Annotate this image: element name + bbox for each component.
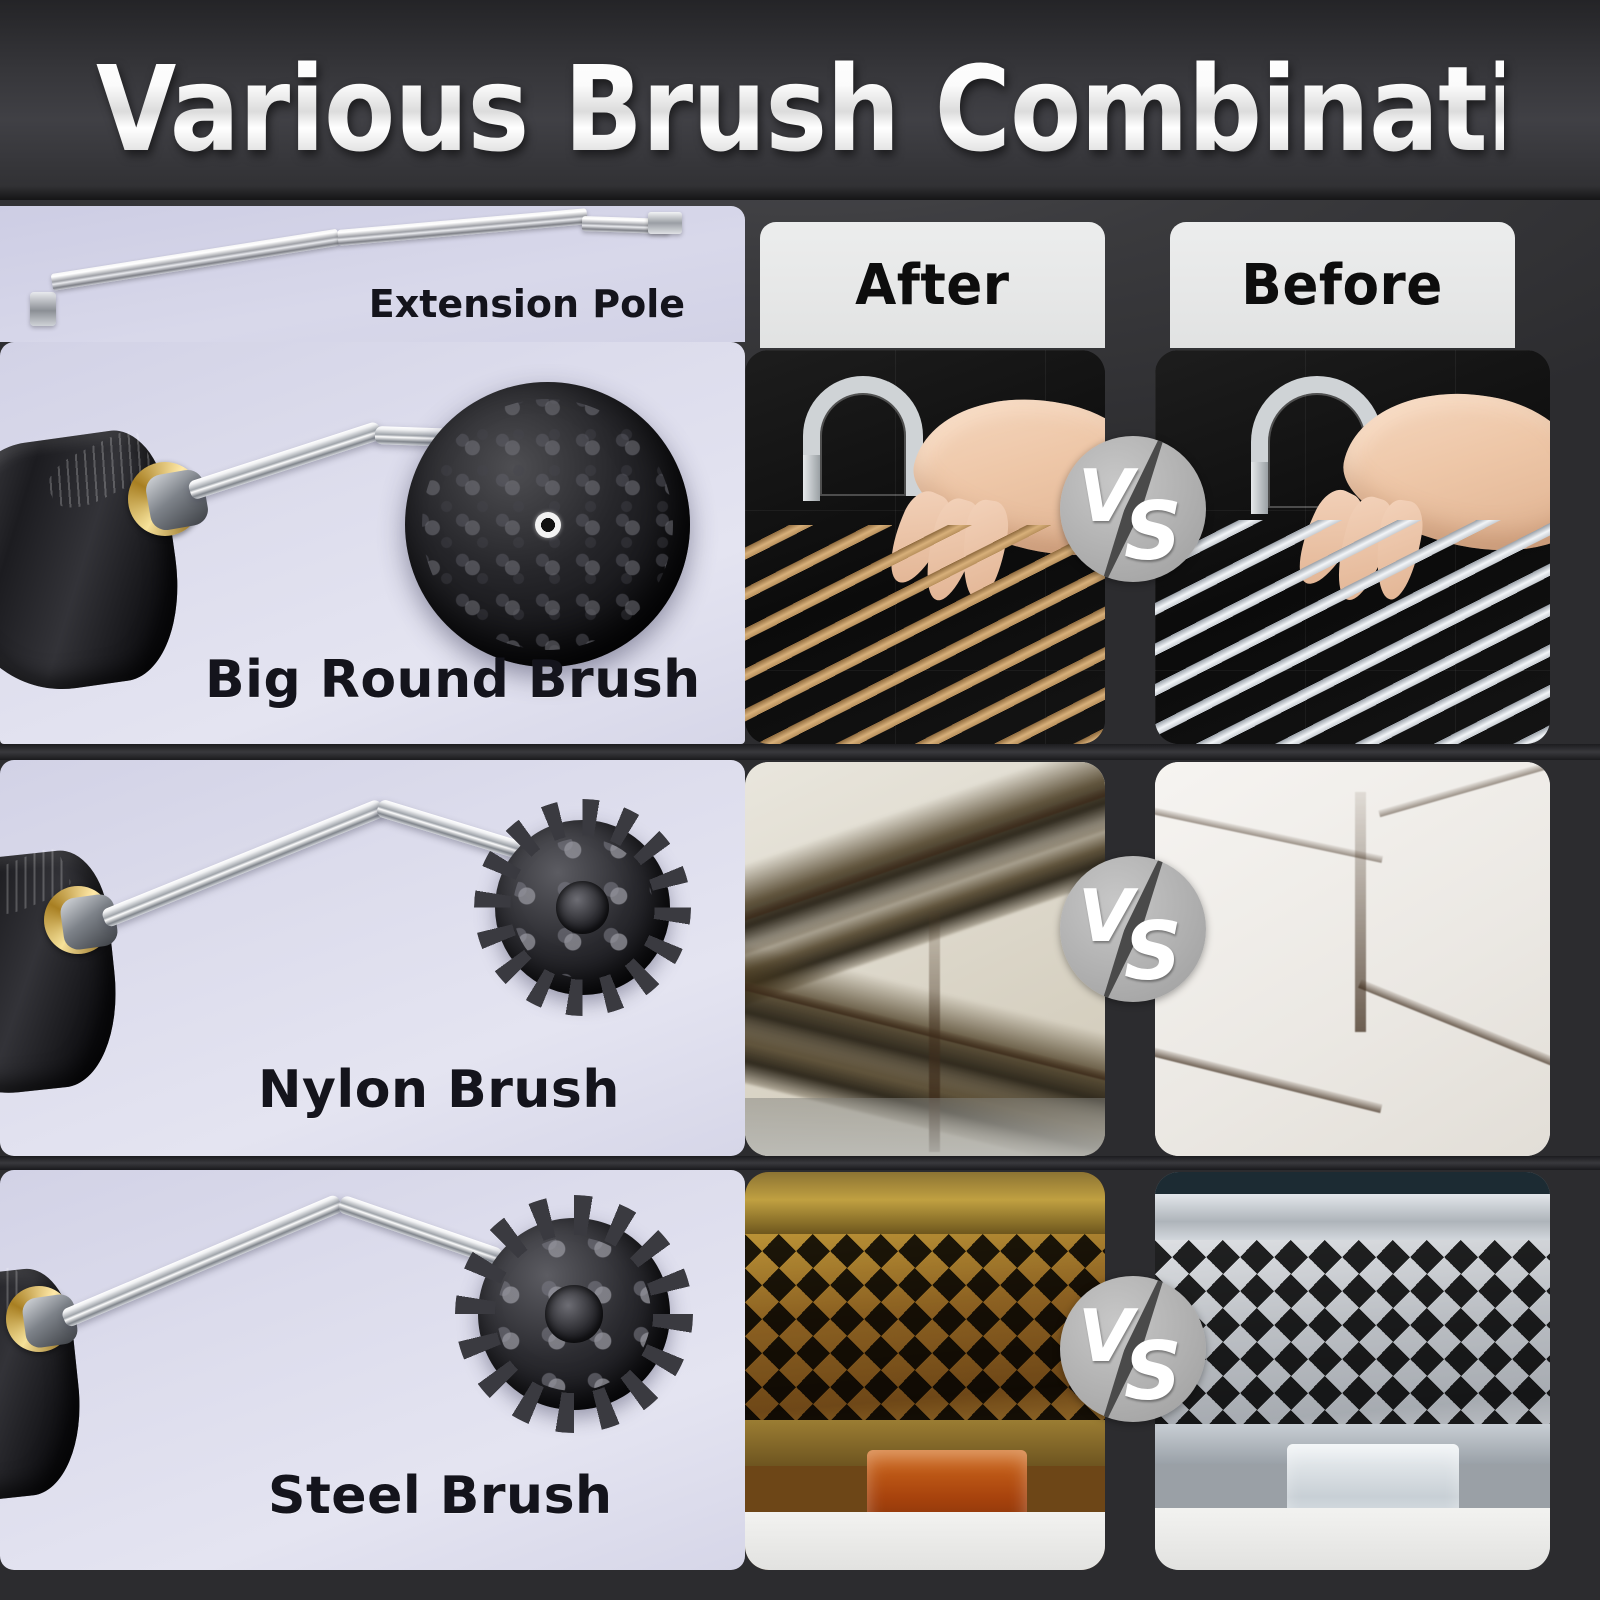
nylon-brush-label: Nylon Brush xyxy=(258,1062,620,1118)
gear-hub xyxy=(556,881,609,934)
row-divider-1 xyxy=(0,744,1600,760)
after-label-text: After xyxy=(855,253,1009,318)
big-round-brush-panel: Big Round Brush xyxy=(0,342,745,744)
nylon-brush-panel: Nylon Brush xyxy=(0,760,745,1156)
product-infographic: Various Brush Combinations Extension Pol… xyxy=(0,0,1600,1600)
before-photo-row-1 xyxy=(1155,350,1550,744)
after-photo-row-3 xyxy=(745,1172,1105,1570)
extension-pole-panel: Extension Pole xyxy=(0,206,745,342)
vs-letter-s: S xyxy=(1124,912,1182,992)
gear-hub xyxy=(545,1285,603,1343)
vs-letter-s: S xyxy=(1124,492,1182,572)
before-label-text: Before xyxy=(1242,253,1444,318)
before-photo-row-3 xyxy=(1155,1172,1550,1570)
row-divider-2 xyxy=(0,1156,1600,1170)
after-column-label: After xyxy=(760,222,1105,348)
vs-badge-row-3: V S xyxy=(1060,1276,1206,1422)
page-title: Various Brush Combinations xyxy=(96,50,1504,168)
vs-badge-row-2: V S xyxy=(1060,856,1206,1002)
big-round-brush-label: Big Round Brush xyxy=(205,652,701,708)
vs-letter-s: S xyxy=(1124,1332,1182,1412)
after-photo-row-1 xyxy=(745,350,1105,744)
before-photo-row-2 xyxy=(1155,762,1550,1156)
vs-badge-row-1: V S xyxy=(1060,436,1206,582)
extension-pole-label: Extension Pole xyxy=(369,282,685,326)
nozzle-hole xyxy=(535,512,561,538)
steel-brush-label: Steel Brush xyxy=(268,1468,613,1524)
before-column-label: Before xyxy=(1170,222,1515,348)
steel-brush-panel: Steel Brush xyxy=(0,1170,745,1570)
after-photo-row-2 xyxy=(745,762,1105,1156)
header-banner: Various Brush Combinations xyxy=(0,0,1600,200)
